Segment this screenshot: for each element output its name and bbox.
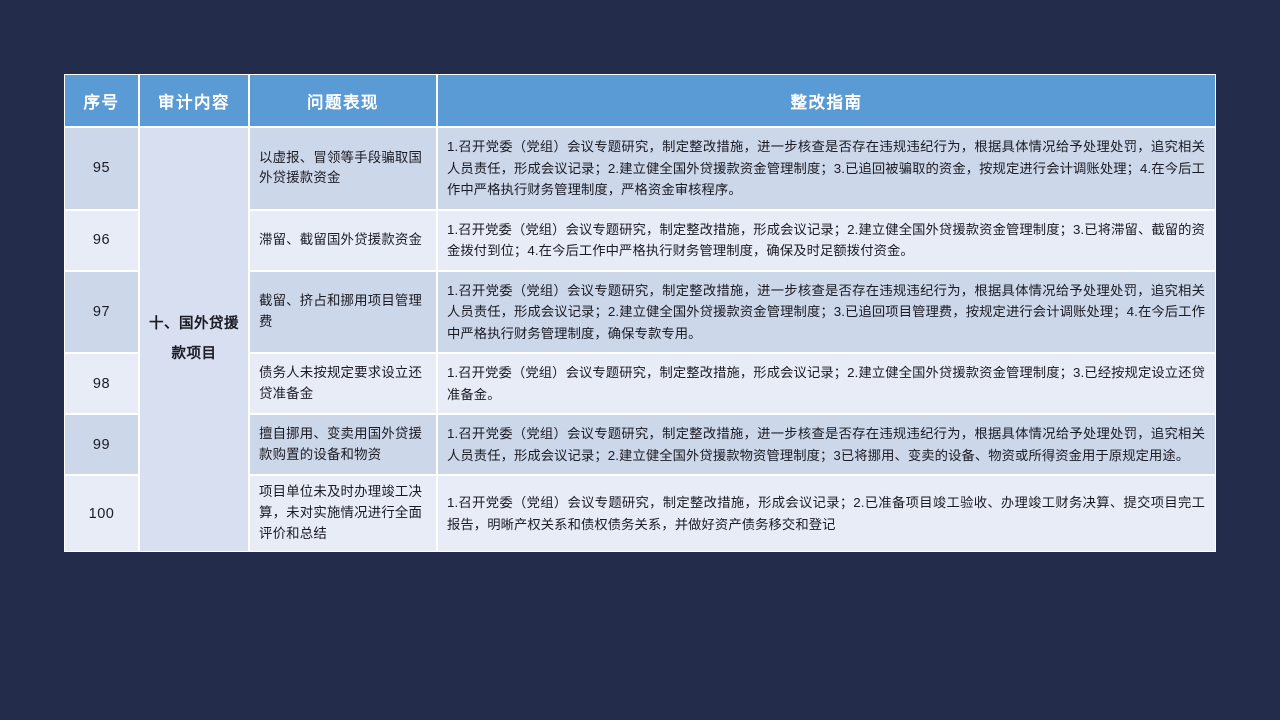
cell-index: 99 (64, 414, 139, 475)
audit-table-container: 序号 审计内容 问题表现 整改指南 95 十、国外贷援 款项目 以虚报、冒领等手… (64, 74, 1216, 552)
table-row: 95 十、国外贷援 款项目 以虚报、冒领等手段骗取国外贷援款资金 1.召开党委（… (64, 127, 1216, 210)
column-header-index: 序号 (64, 74, 139, 127)
column-header-guide: 整改指南 (437, 74, 1216, 127)
column-header-category: 审计内容 (139, 74, 249, 127)
cell-category-merged: 十、国外贷援 款项目 (139, 127, 249, 552)
cell-issue: 债务人未按规定要求设立还贷准备金 (249, 353, 437, 414)
slide-canvas: 序号 审计内容 问题表现 整改指南 95 十、国外贷援 款项目 以虚报、冒领等手… (0, 0, 1280, 720)
column-header-issue: 问题表现 (249, 74, 437, 127)
cell-index: 98 (64, 353, 139, 414)
cell-issue: 截留、挤占和挪用项目管理费 (249, 271, 437, 354)
cell-index: 100 (64, 475, 139, 551)
cell-issue: 滞留、截留国外贷援款资金 (249, 210, 437, 271)
cell-index: 97 (64, 271, 139, 354)
cell-index: 96 (64, 210, 139, 271)
cell-issue: 擅自挪用、变卖用国外贷援款购置的设备和物资 (249, 414, 437, 475)
table-header: 序号 审计内容 问题表现 整改指南 (64, 74, 1216, 127)
cell-guide: 1.召开党委（党组）会议专题研究，制定整改措施，进一步核查是否存在违规违纪行为，… (437, 414, 1216, 475)
cell-guide: 1.召开党委（党组）会议专题研究，制定整改措施，形成会议记录；2.已准备项目竣工… (437, 475, 1216, 551)
audit-remediation-table: 序号 审计内容 问题表现 整改指南 95 十、国外贷援 款项目 以虚报、冒领等手… (64, 74, 1216, 552)
table-body: 95 十、国外贷援 款项目 以虚报、冒领等手段骗取国外贷援款资金 1.召开党委（… (64, 127, 1216, 552)
cell-index: 95 (64, 127, 139, 210)
cell-guide: 1.召开党委（党组）会议专题研究，制定整改措施，形成会议记录；2.建立健全国外贷… (437, 210, 1216, 271)
category-line-1: 十、国外贷援 (141, 309, 247, 339)
cell-guide: 1.召开党委（党组）会议专题研究，制定整改措施，形成会议记录；2.建立健全国外贷… (437, 353, 1216, 414)
cell-guide: 1.召开党委（党组）会议专题研究，制定整改措施，进一步核查是否存在违规违纪行为，… (437, 127, 1216, 210)
cell-issue: 项目单位未及时办理竣工决算，未对实施情况进行全面评价和总结 (249, 475, 437, 551)
cell-guide: 1.召开党委（党组）会议专题研究，制定整改措施，进一步核查是否存在违规违纪行为，… (437, 271, 1216, 354)
table-header-row: 序号 审计内容 问题表现 整改指南 (64, 74, 1216, 127)
cell-issue: 以虚报、冒领等手段骗取国外贷援款资金 (249, 127, 437, 210)
category-line-2: 款项目 (141, 339, 247, 369)
